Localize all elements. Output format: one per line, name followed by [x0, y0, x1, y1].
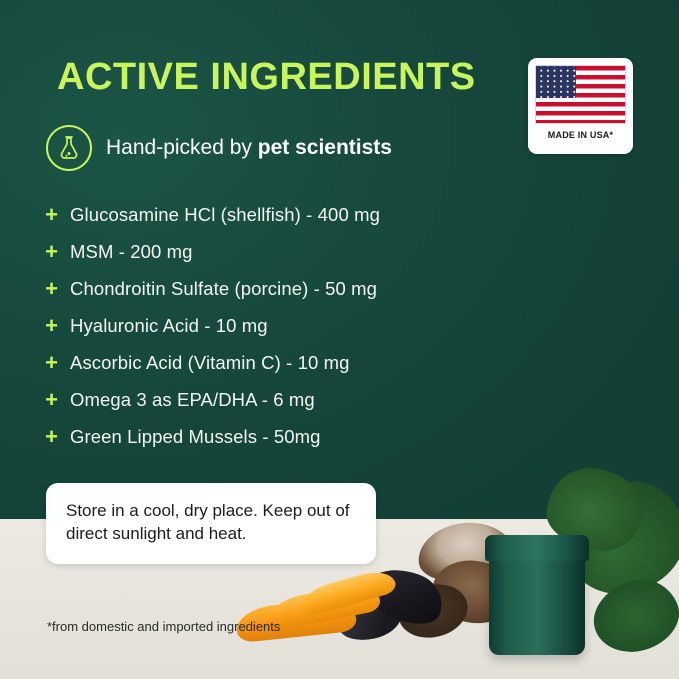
- plus-icon: +: [44, 241, 59, 263]
- flag-stars: [536, 66, 576, 98]
- ingredient-list: + Glucosamine HCl (shellfish) - 400 mg +…: [44, 196, 514, 455]
- list-item: + Omega 3 as EPA/DHA - 6 mg: [44, 381, 514, 418]
- list-item-label: Green Lipped Mussels - 50mg: [70, 426, 321, 448]
- list-item: + MSM - 200 mg: [44, 233, 514, 270]
- list-item-label: Glucosamine HCl (shellfish) - 400 mg: [70, 204, 380, 226]
- list-item: + Chondroitin Sulfate (porcine) - 50 mg: [44, 270, 514, 307]
- list-item: + Green Lipped Mussels - 50mg: [44, 418, 514, 455]
- subheadline-prefix: Hand-picked by: [106, 136, 258, 159]
- list-item: + Hyaluronic Acid - 10 mg: [44, 307, 514, 344]
- list-item-label: MSM - 200 mg: [70, 241, 193, 263]
- subheadline-emphasis: pet scientists: [258, 136, 392, 159]
- jar-lid: [485, 535, 589, 561]
- usa-flag-icon: [535, 65, 626, 124]
- list-item-label: Omega 3 as EPA/DHA - 6 mg: [70, 389, 315, 411]
- page-title: ACTIVE INGREDIENTS: [57, 56, 476, 99]
- made-in-usa-badge: MADE IN USA*: [528, 58, 633, 154]
- flask-icon: [46, 125, 92, 171]
- storage-note-card: Store in a cool, dry place. Keep out of …: [46, 483, 376, 564]
- list-item-label: Chondroitin Sulfate (porcine) - 50 mg: [70, 278, 377, 300]
- storage-note-text: Store in a cool, dry place. Keep out of …: [66, 500, 356, 546]
- plus-icon: +: [44, 204, 59, 226]
- plus-icon: +: [44, 426, 59, 448]
- list-item-label: Ascorbic Acid (Vitamin C) - 10 mg: [70, 352, 350, 374]
- list-item: + Ascorbic Acid (Vitamin C) - 10 mg: [44, 344, 514, 381]
- product-infographic: ACTIVE INGREDIENTS MADE IN USA* Hand-pic…: [0, 0, 679, 679]
- plus-icon: +: [44, 352, 59, 374]
- plus-icon: +: [44, 389, 59, 411]
- list-item-label: Hyaluronic Acid - 10 mg: [70, 315, 268, 337]
- subheadline-text: Hand-picked by pet scientists: [106, 136, 392, 160]
- plus-icon: +: [44, 315, 59, 337]
- list-item: + Glucosamine HCl (shellfish) - 400 mg: [44, 196, 514, 233]
- footnote: *from domestic and imported ingredients: [47, 619, 280, 634]
- subheadline-row: Hand-picked by pet scientists: [46, 125, 392, 171]
- badge-caption: MADE IN USA*: [548, 130, 613, 140]
- plus-icon: +: [44, 278, 59, 300]
